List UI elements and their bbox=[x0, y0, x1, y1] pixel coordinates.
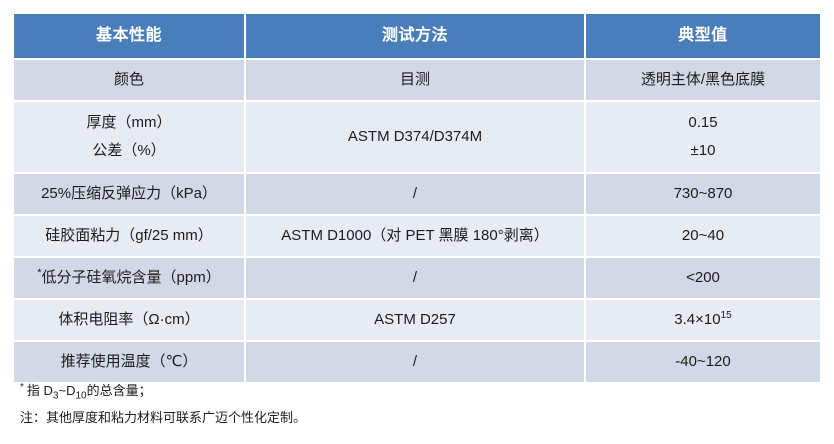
cell-property-compression-rebound-stress: 25%压缩反弹应力（kPa） bbox=[14, 173, 245, 215]
resistivity-base: 3.4×10 bbox=[674, 311, 720, 328]
cell-method-thickness-tolerance: ASTM D374/D374M bbox=[245, 101, 585, 173]
cell-property-color: 颜色 bbox=[14, 59, 245, 101]
cell-typical-low-molecular-siloxane: <200 bbox=[585, 257, 820, 299]
table-row-recommended-temperature: 推荐使用温度（℃） / -40~120 bbox=[14, 341, 820, 383]
cell-property-thickness: 厚度（mm） bbox=[20, 113, 238, 133]
table-row-color: 颜色 目测 透明主体/黑色底膜 bbox=[14, 59, 820, 101]
cell-method-compression-rebound-stress: / bbox=[245, 173, 585, 215]
spec-table-container: 基本性能 测试方法 典型值 颜色 目测 透明主体/黑色底膜 厚度（mm） 公差（… bbox=[14, 14, 820, 384]
table-row-volume-resistivity: 体积电阻率（Ω·cm） ASTM D257 3.4×1015 bbox=[14, 299, 820, 341]
table-header-row: 基本性能 测试方法 典型值 bbox=[14, 14, 820, 59]
table-body: 颜色 目测 透明主体/黑色底膜 厚度（mm） 公差（%） ASTM D374/D… bbox=[14, 59, 820, 383]
column-header-property: 基本性能 bbox=[14, 14, 245, 59]
cell-property-volume-resistivity: 体积电阻率（Ω·cm） bbox=[14, 299, 245, 341]
footnotes-block: *指 D3~D10的总含量； 注：其他厚度和粘力材料可联系广迈个性化定制。 bbox=[20, 381, 810, 427]
cell-typical-thickness-tolerance: 0.15 ±10 bbox=[585, 101, 820, 173]
table-row-compression-rebound-stress: 25%压缩反弹应力（kPa） / 730~870 bbox=[14, 173, 820, 215]
cell-typical-tolerance: ±10 bbox=[592, 141, 814, 161]
cell-method-silicone-tack: ASTM D1000（对 PET 黑膜 180°剥离） bbox=[245, 215, 585, 257]
column-header-typical-value: 典型值 bbox=[585, 14, 820, 59]
resistivity-exponent: 15 bbox=[721, 310, 732, 321]
table-row-silicone-tack: 硅胶面粘力（gf/25 mm） ASTM D1000（对 PET 黑膜 180°… bbox=[14, 215, 820, 257]
footnote-star-marker: * bbox=[20, 382, 24, 393]
cell-method-low-molecular-siloxane: / bbox=[245, 257, 585, 299]
specification-table: 基本性能 测试方法 典型值 颜色 目测 透明主体/黑色底膜 厚度（mm） 公差（… bbox=[14, 14, 820, 384]
footnote-customization: 注：其他厚度和粘力材料可联系广迈个性化定制。 bbox=[20, 408, 810, 428]
cell-typical-compression-rebound-stress: 730~870 bbox=[585, 173, 820, 215]
footnote-subscript-10: 10 bbox=[75, 391, 86, 402]
cell-property-thickness-tolerance: 厚度（mm） 公差（%） bbox=[14, 101, 245, 173]
cell-method-color: 目测 bbox=[245, 59, 585, 101]
cell-typical-silicone-tack: 20~40 bbox=[585, 215, 820, 257]
cell-property-tolerance: 公差（%） bbox=[20, 141, 238, 161]
table-header: 基本性能 测试方法 典型值 bbox=[14, 14, 820, 59]
cell-method-volume-resistivity: ASTM D257 bbox=[245, 299, 585, 341]
footnote-text-post: 的总含量； bbox=[87, 383, 152, 398]
footnote-text-mid: ~D bbox=[58, 383, 75, 398]
cell-property-recommended-temperature: 推荐使用温度（℃） bbox=[14, 341, 245, 383]
column-header-method: 测试方法 bbox=[245, 14, 585, 59]
cell-typical-color: 透明主体/黑色底膜 bbox=[585, 59, 820, 101]
cell-property-low-molecular-siloxane: *低分子硅氧烷含量（ppm） bbox=[14, 257, 245, 299]
table-row-thickness-tolerance: 厚度（mm） 公差（%） ASTM D374/D374M 0.15 ±10 bbox=[14, 101, 820, 173]
cell-method-recommended-temperature: / bbox=[245, 341, 585, 383]
cell-typical-recommended-temperature: -40~120 bbox=[585, 341, 820, 383]
cell-property-silicone-tack: 硅胶面粘力（gf/25 mm） bbox=[14, 215, 245, 257]
cell-property-low-molecular-siloxane-text: 低分子硅氧烷含量（ppm） bbox=[42, 269, 221, 286]
cell-typical-thickness: 0.15 bbox=[592, 113, 814, 133]
cell-typical-volume-resistivity: 3.4×1015 bbox=[585, 299, 820, 341]
footnote-text-pre: 指 D bbox=[27, 383, 53, 398]
table-row-low-molecular-siloxane: *低分子硅氧烷含量（ppm） / <200 bbox=[14, 257, 820, 299]
footnote-siloxane: *指 D3~D10的总含量； bbox=[20, 381, 810, 401]
